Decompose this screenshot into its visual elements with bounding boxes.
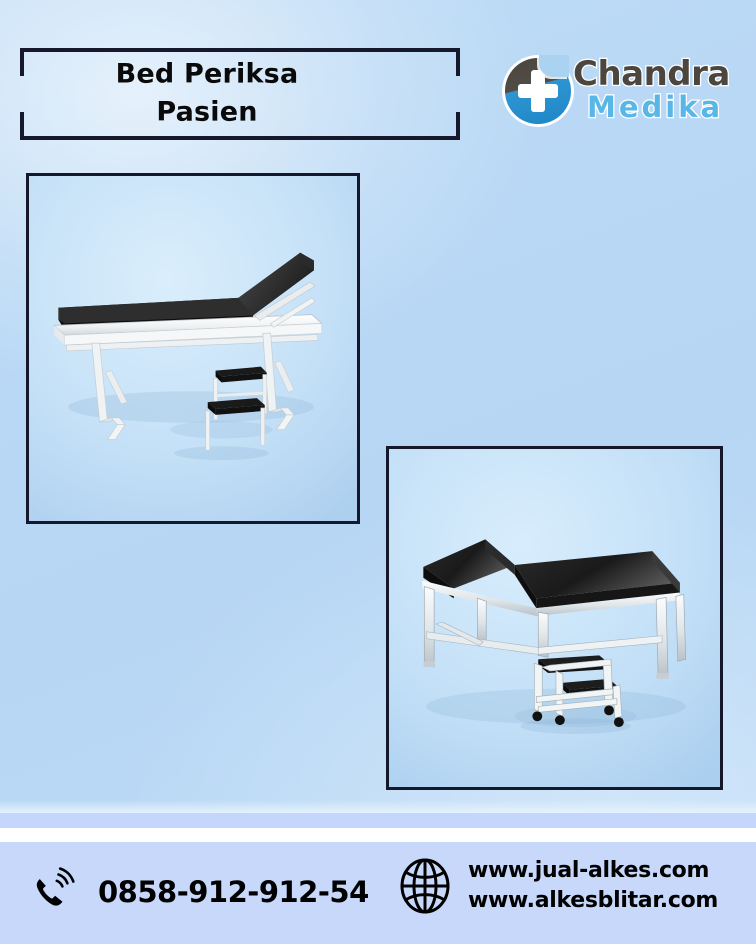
logo-notch <box>539 55 569 77</box>
footer-contact-bar: 0858-912-912-54 www.jual-alkes.com www.a… <box>0 842 756 944</box>
page-title: Bed Periksa Pasien <box>20 56 460 133</box>
brand-name-primary: Chandra <box>573 54 730 94</box>
globe-icon <box>398 856 452 916</box>
page-title-line-2: Pasien <box>20 94 460 132</box>
website-line-2[interactable]: www.alkesblitar.com <box>468 886 718 916</box>
title-box: Bed Periksa Pasien <box>20 48 460 140</box>
footer-band-blue <box>0 813 756 828</box>
medical-cross-circle-icon <box>505 58 571 124</box>
brand-logo: Chandra Medika <box>505 52 737 138</box>
title-box-border-bottom <box>20 136 460 140</box>
flyer-page: Bed Periksa Pasien Chandra Medika <box>0 0 756 944</box>
cross-horizontal-bar <box>518 84 558 98</box>
brand-name-secondary: Medika <box>587 90 723 124</box>
examination-bed-illustration-2 <box>389 449 720 787</box>
website-line-1[interactable]: www.jual-alkes.com <box>468 856 718 886</box>
phone-contact[interactable]: 0858-912-912-54 <box>28 864 369 920</box>
product-photo-2 <box>386 446 723 790</box>
footer-band-white <box>0 828 756 842</box>
product-photo-1 <box>26 173 360 524</box>
phone-number-text: 0858-912-912-54 <box>98 875 369 909</box>
examination-bed-illustration-1 <box>29 176 357 521</box>
page-title-line-1: Bed Periksa <box>20 56 460 94</box>
website-contact[interactable]: www.jual-alkes.com www.alkesblitar.com <box>398 856 718 916</box>
phone-ringing-icon <box>28 864 84 920</box>
title-box-border-top <box>20 48 460 52</box>
footer-band-pale <box>0 800 756 813</box>
website-list: www.jual-alkes.com www.alkesblitar.com <box>468 856 718 915</box>
